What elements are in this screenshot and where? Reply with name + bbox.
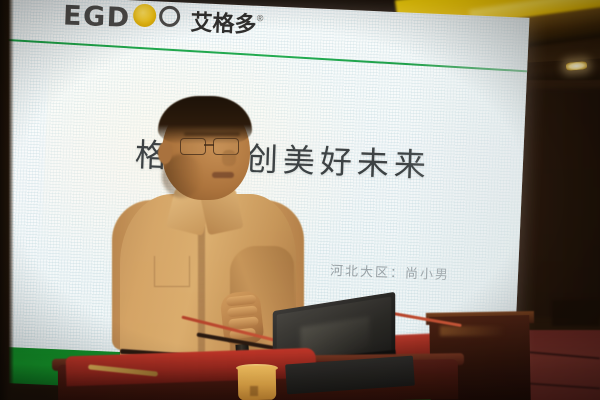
hair (158, 96, 252, 144)
podium-highlight (440, 326, 506, 336)
photo-scene: EGD艾格多® 格多共创美好未来 河北大区：尚小男 (0, 0, 600, 400)
finger (227, 305, 258, 317)
background-object (552, 300, 600, 326)
eyebrow (184, 132, 240, 136)
lens-left (180, 138, 206, 155)
glasses-bridge (204, 144, 214, 146)
ear (158, 142, 172, 164)
logo-ring-circle-icon (158, 6, 180, 28)
logo-wordmark: EGD (63, 0, 132, 34)
logo-filled-circle-icon (132, 4, 156, 28)
cup-marking (250, 386, 258, 396)
logo-brand-cn: 艾格多 (190, 10, 257, 37)
finger (226, 294, 257, 306)
left-frame-edge (0, 0, 14, 400)
finger (228, 316, 259, 328)
shirt-pocket (154, 256, 190, 287)
mouth (212, 172, 234, 178)
nose (222, 150, 236, 166)
trademark-symbol: ® (257, 13, 264, 23)
